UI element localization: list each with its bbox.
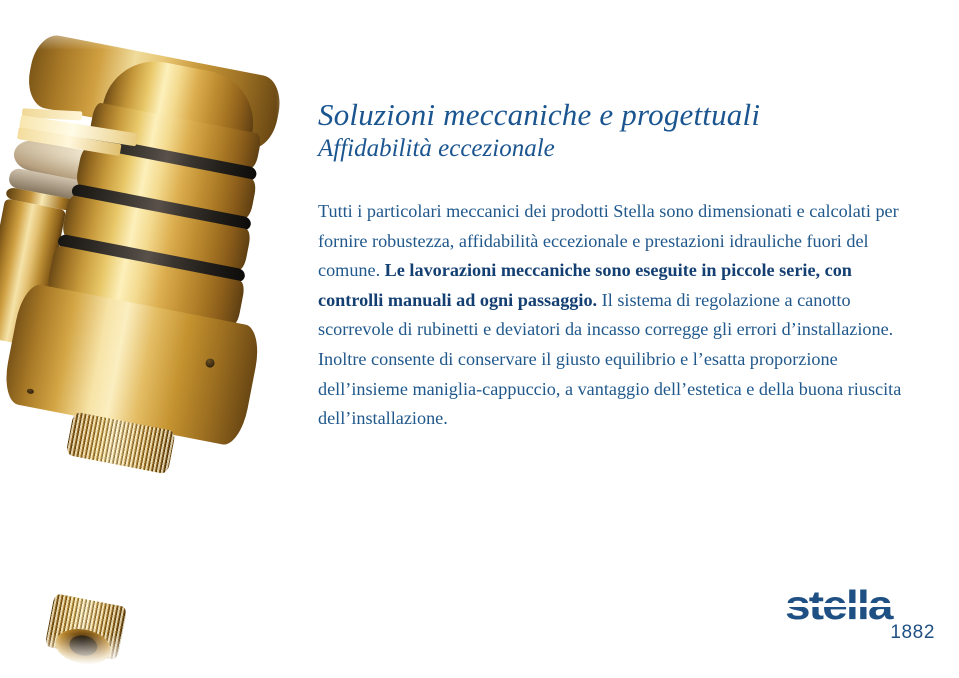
body-paragraph: Tutti i particolari meccanici dei prodot… xyxy=(318,197,918,434)
photo-fade-right xyxy=(276,0,310,678)
headline-secondary: Affidabilità eccezionale xyxy=(318,134,920,163)
stella-logo: stella 1882 xyxy=(785,586,935,644)
headline-primary: Soluzioni meccaniche e progettuali xyxy=(318,98,920,132)
logo-year: 1882 xyxy=(890,622,935,644)
photo-fade-bottom xyxy=(0,634,310,678)
brass-cartridge-illustration xyxy=(0,32,310,678)
photo-fade-top xyxy=(0,0,310,50)
body-segment-3: Il sistema di regolazione a canotto scor… xyxy=(318,290,901,428)
stella-wordmark: stella xyxy=(785,586,953,624)
text-column: Soluzioni meccaniche e progettuali Affid… xyxy=(318,98,920,452)
product-photo xyxy=(0,0,310,678)
slide-page: Soluzioni meccaniche e progettuali Affid… xyxy=(0,0,959,678)
